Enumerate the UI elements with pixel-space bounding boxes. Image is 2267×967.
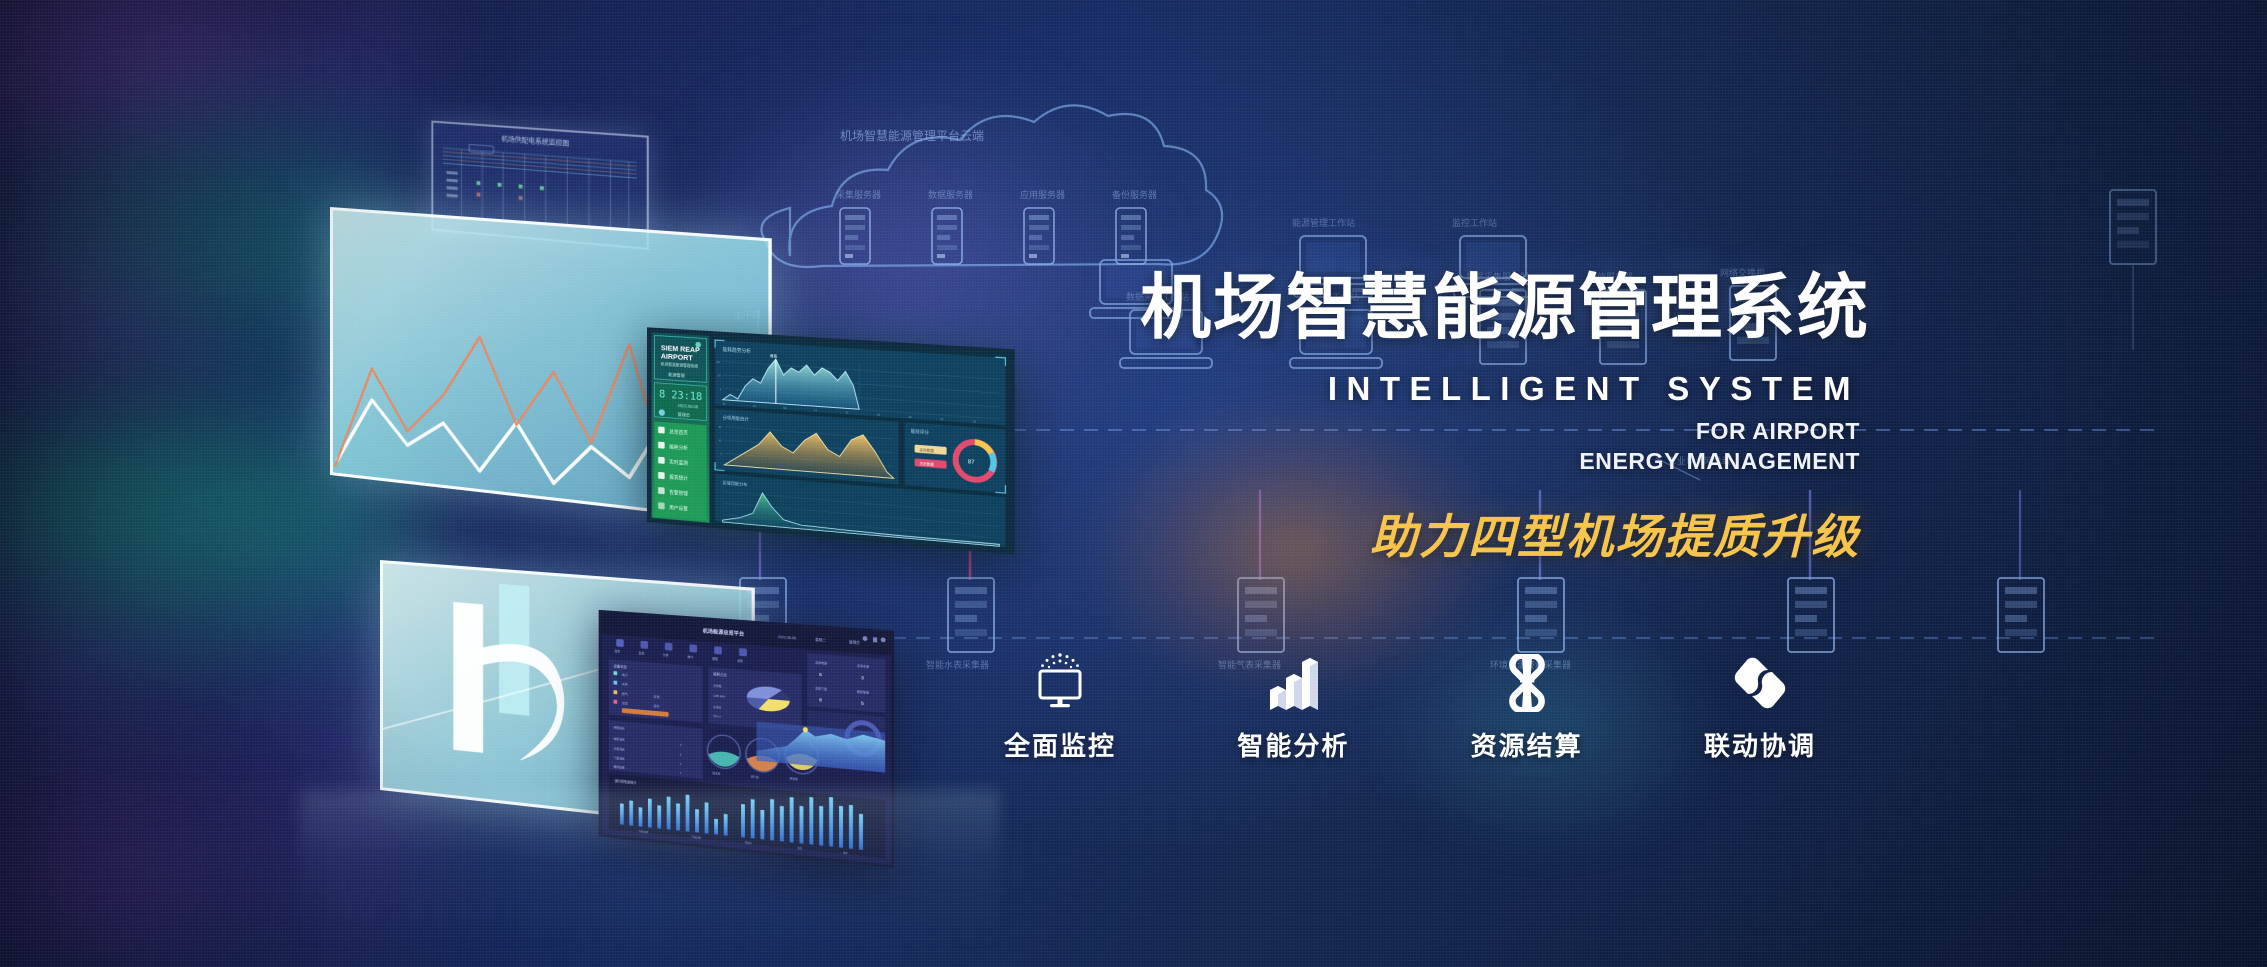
monitor-signal-icon (1029, 650, 1091, 712)
svg-text:用能指标: 用能指标 (614, 724, 625, 730)
svg-text:报警: 报警 (712, 656, 718, 662)
svg-text:采集服务器: 采集服务器 (836, 189, 881, 200)
english-sub-energy: ENERGY MANAGEMENT (1140, 446, 1860, 476)
svg-text:总燃气量: 总燃气量 (815, 685, 827, 691)
svg-text:8: 8 (819, 697, 822, 703)
svg-text:电力: 电力 (622, 672, 628, 677)
svg-text:分析: 分析 (663, 652, 669, 657)
svg-text:空调: 空调 (622, 700, 628, 705)
interlocking-links-icon (1729, 650, 1791, 712)
headline-block: 机场智慧能源管理系统 INTELLIGENT SYSTEM FOR AIRPOR… (1140, 272, 1860, 560)
svg-text:用电率: 用电率 (790, 776, 799, 781)
svg-text:监测: 监测 (639, 650, 645, 655)
svg-text:总用电: 总用电 (713, 684, 721, 689)
svg-text:总用水: 总用水 (713, 705, 721, 710)
svg-text:机场智慧能源管理平台云端: 机场智慧能源管理平台云端 (840, 128, 984, 143)
svg-text:总用水量: 总用水量 (857, 663, 869, 669)
energy-dashboard-monitor[interactable]: SIEM REAP AIRPORT 机场智慧能源管理系统 能源管理 8 23:1… (647, 327, 1015, 554)
feature-item-coordination[interactable]: 联动协调 (1660, 650, 1860, 763)
svg-text:燃气: 燃气 (622, 691, 628, 696)
feature-item-analysis[interactable]: 智能分析 (1193, 650, 1393, 763)
svg-text:100: 100 (716, 361, 721, 364)
svg-text:正常: 正常 (654, 693, 660, 699)
h-logo-icon (453, 580, 564, 765)
svg-text:用气率: 用气率 (751, 775, 759, 780)
feature-item-settlement[interactable]: 资源结算 (1427, 650, 1627, 763)
svg-text:碳排放量: 碳排放量 (857, 688, 869, 694)
english-title: INTELLIGENT SYSTEM (1140, 372, 1860, 405)
svg-text:能源管理工作站: 能源管理工作站 (1292, 217, 1355, 228)
svg-text:首页: 首页 (614, 648, 620, 653)
svg-text:3: 3 (861, 675, 864, 681)
page-title: 机场智慧能源管理系统 (1140, 272, 1860, 346)
feature-label-analysis: 智能分析 (1237, 726, 1349, 763)
svg-text:监控工作站: 监控工作站 (1452, 217, 1497, 228)
svg-text:管理员: 管理员 (849, 639, 860, 645)
feature-label-settlement: 资源结算 (1471, 726, 1583, 763)
feature-row: 全面监控 智能分析 (960, 650, 1860, 780)
svg-text:星期二: 星期二 (815, 637, 826, 643)
svg-text:水务: 水务 (622, 681, 628, 686)
svg-text:87: 87 (968, 459, 975, 466)
svg-text:备份服务器: 备份服务器 (1112, 189, 1157, 200)
svg-text:340 m³: 340 m³ (713, 714, 721, 719)
four-petal-knot-icon (1498, 650, 1556, 712)
svg-text:数据服务器: 数据服务器 (928, 189, 973, 200)
svg-text:运行: 运行 (654, 703, 660, 709)
svg-text:机场供配电系统监控图: 机场供配电系统监控图 (501, 134, 569, 148)
svg-text:峰值: 峰值 (770, 353, 777, 358)
feature-item-monitoring[interactable]: 全面监控 (960, 650, 1160, 763)
banner-root: 机场智慧能源管理平台云端 采集服务器 数据服务器 应用服务器 备份服务器 能源管… (0, 0, 2267, 967)
svg-text:用水率: 用水率 (712, 771, 720, 776)
svg-text:应用服务器: 应用服务器 (1020, 189, 1065, 200)
svg-text:统计: 统计 (688, 654, 694, 659)
svg-text:6: 6 (819, 672, 822, 678)
bar-chart-3d-icon (1264, 650, 1322, 712)
feature-label-monitoring: 全面监控 (1004, 726, 1116, 763)
svg-text:设置: 设置 (737, 657, 743, 663)
left-edge-shade (0, 0, 340, 967)
svg-text:总用电量: 总用电量 (815, 659, 827, 665)
english-sub-airport: FOR AIRPORT (1140, 416, 1860, 446)
tagline: 助力四型机场提质升级 (1140, 513, 1860, 560)
svg-text:5: 5 (861, 701, 864, 707)
floor-reflection (300, 790, 1000, 950)
feature-label-coordination: 联动协调 (1704, 726, 1816, 763)
